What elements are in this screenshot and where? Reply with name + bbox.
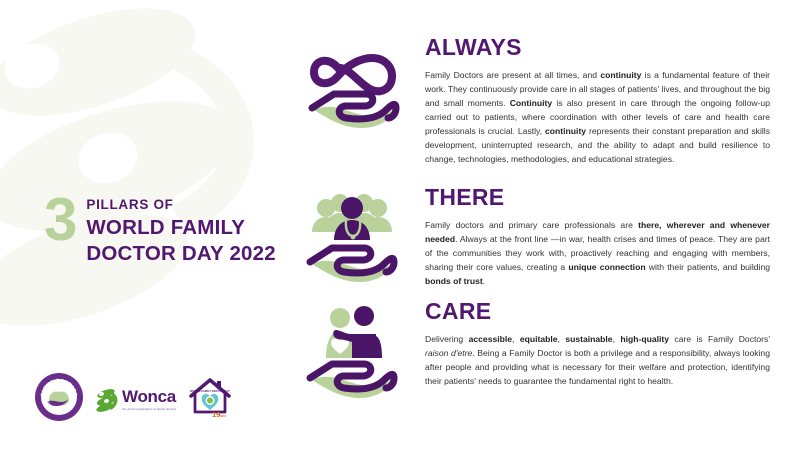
pillar-always: ALWAYS Family Doctors are present at all…	[300, 36, 770, 166]
wonca-tagline: the world organization of family doctors	[122, 407, 176, 411]
title-doctor-day-year: DOCTOR DAY 2022	[86, 242, 275, 266]
title-block: 3 PILLARS OF WORLD FAMILY DOCTOR DAY 202…	[44, 192, 276, 266]
pillar-care-text: Delivering accessible, equitable, sustai…	[425, 333, 770, 389]
world-family-doctor-day-house-logo: 19 MAY WORLD FAMILY DOCTOR DAY	[186, 374, 234, 425]
title-pillars-of: PILLARS OF	[86, 197, 275, 214]
title-world-family: WORLD FAMILY	[86, 216, 275, 240]
footer-logos: FAMILY DOCTORS ALWAYS THERE TO CARE	[34, 372, 234, 427]
wonca-logo: Wonca the world organization of family d…	[96, 388, 176, 412]
pillar-always-text: Family Doctors are present at all times,…	[425, 69, 770, 166]
house-logo-month: MAY	[220, 414, 226, 418]
infographic-page: 3 PILLARS OF WORLD FAMILY DOCTOR DAY 202…	[0, 0, 800, 450]
wonca-globe-icon	[96, 388, 118, 412]
infinity-hand-icon	[300, 36, 405, 146]
pillar-always-heading: ALWAYS	[425, 36, 770, 59]
family-doctors-badge-logo: FAMILY DOCTORS ALWAYS THERE TO CARE	[34, 372, 84, 427]
pillar-there-text: Family doctors and primary care professi…	[425, 219, 770, 289]
globe-watermark	[0, 0, 300, 330]
pillar-count-number: 3	[44, 194, 75, 247]
pillar-care: CARE Delivering accessible, equitable, s…	[300, 300, 770, 410]
house-logo-text: WORLD FAMILY DOCTOR DAY	[190, 389, 230, 393]
wonca-wordmark: Wonca	[122, 388, 176, 405]
embrace-heart-hand-icon	[300, 300, 405, 410]
pillar-care-heading: CARE	[425, 300, 770, 323]
pillar-there: THERE Family doctors and primary care pr…	[300, 186, 770, 296]
pillar-there-heading: THERE	[425, 186, 770, 209]
house-logo-date: 19	[212, 410, 220, 419]
doctor-group-hand-icon	[300, 186, 405, 296]
